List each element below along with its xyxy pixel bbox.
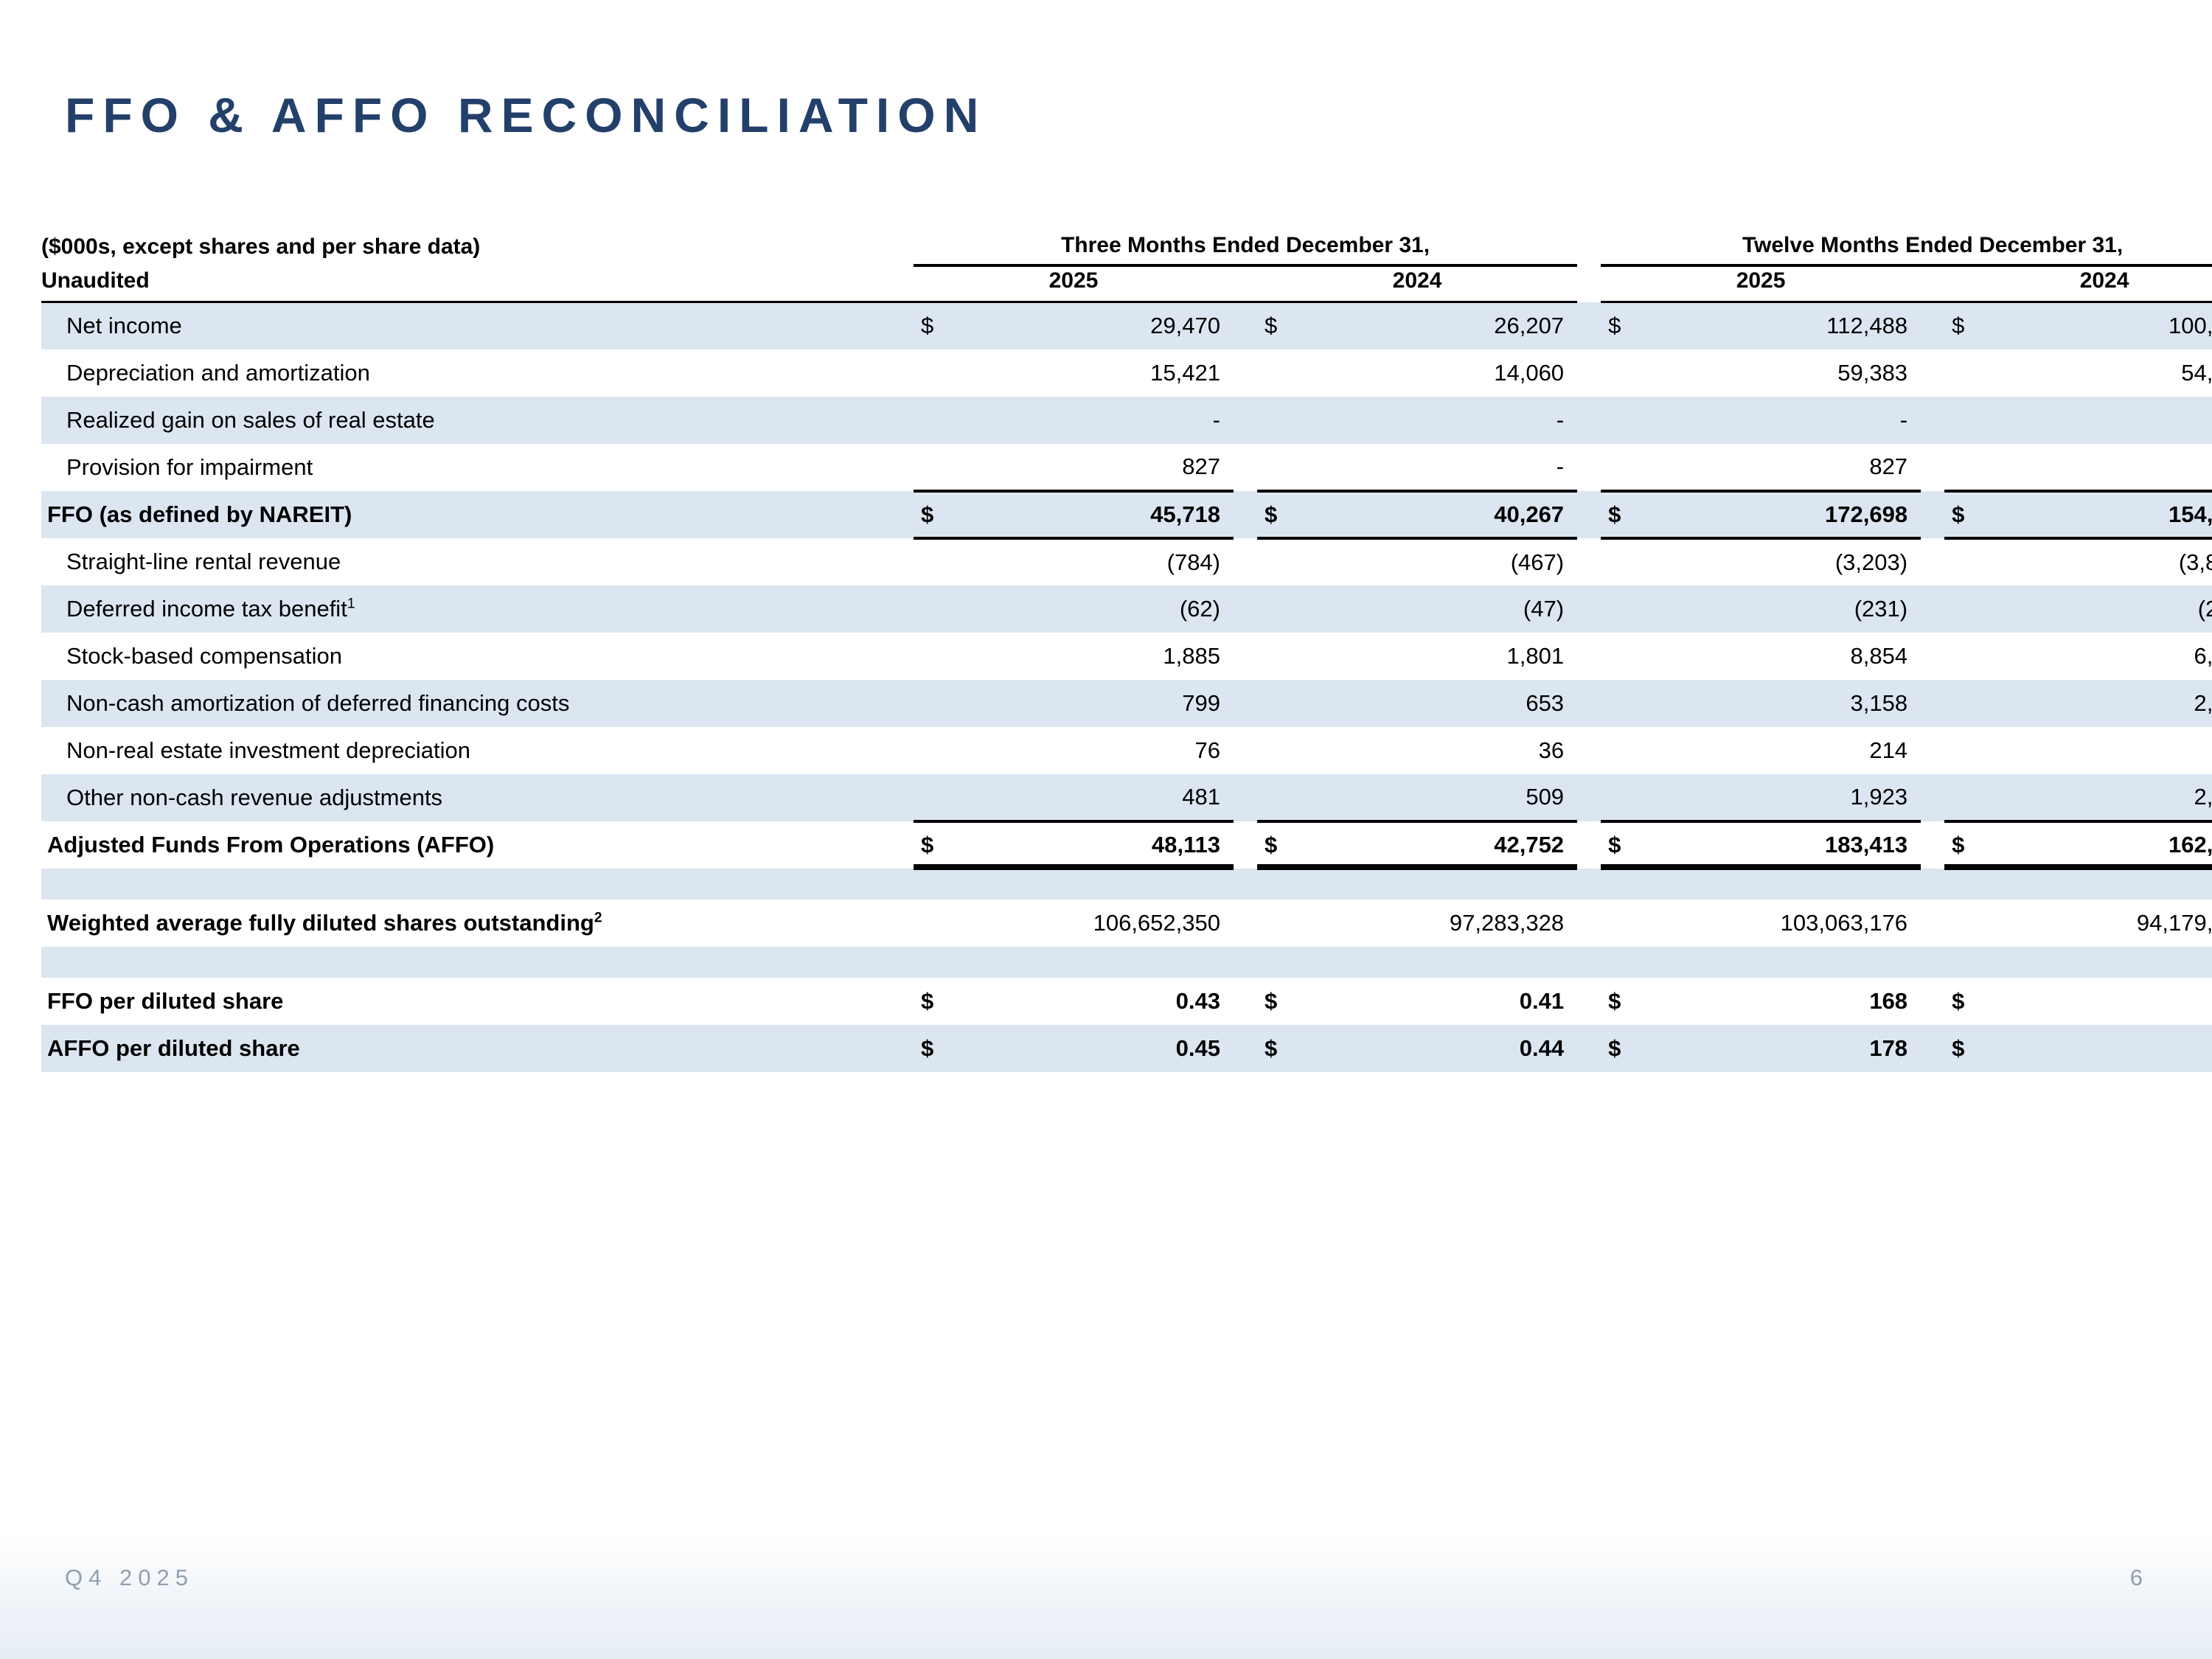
value-cell: 97,283,328 xyxy=(1295,900,1577,947)
value-cell: - xyxy=(952,397,1234,444)
currency-symbol-cell xyxy=(1257,727,1295,774)
column-gap xyxy=(1577,302,1601,349)
row-label: Deferred income tax benefit1 xyxy=(41,585,914,633)
row-label: FFO (as defined by NAREIT) xyxy=(41,491,914,538)
spacer-cell xyxy=(41,869,2212,900)
column-gap xyxy=(1577,538,1601,585)
value-cell: 106,652,350 xyxy=(952,900,1234,947)
value-cell: 1,801 xyxy=(1295,633,1577,680)
value-cell: 799 xyxy=(952,680,1234,727)
value-cell: 100,595 xyxy=(1983,302,2212,349)
row-label: Provision for impairment xyxy=(41,444,914,491)
currency-symbol-cell xyxy=(1601,585,1639,633)
currency-symbol-cell: $ xyxy=(1257,821,1295,869)
currency-symbol-cell xyxy=(1257,900,1295,947)
column-gap xyxy=(1921,491,1944,538)
value-cell: 2,072 xyxy=(1983,774,2212,821)
currency-symbol-cell: $ xyxy=(1601,491,1639,538)
table-row: Stock-based compensation1,8851,8018,8546… xyxy=(41,633,2212,680)
value-cell: 94,179,057 xyxy=(1983,900,2212,947)
value-cell: 178 xyxy=(1639,1025,1921,1072)
value-cell: (231) xyxy=(1639,585,1921,633)
footer-band xyxy=(0,1535,2212,1659)
currency-symbol-cell xyxy=(914,680,952,727)
currency-symbol-cell xyxy=(1944,397,1983,444)
col-header-y-2025: 2025 xyxy=(1601,265,1921,302)
value-cell: 40,267 xyxy=(1295,491,1577,538)
currency-symbol-cell xyxy=(1944,585,1983,633)
currency-symbol-cell xyxy=(914,585,952,633)
row-label: Non-real estate investment depreciation xyxy=(41,727,914,774)
table-row: Non-cash amortization of deferred financ… xyxy=(41,680,2212,727)
currency-symbol-cell: $ xyxy=(1944,1025,1983,1072)
currency-symbol-cell xyxy=(914,538,952,585)
table-row: Deferred income tax benefit1(62)(47)(231… xyxy=(41,585,2212,633)
currency-symbol-cell: $ xyxy=(914,1025,952,1072)
value-cell: (467) xyxy=(1295,538,1577,585)
currency-symbol-cell xyxy=(1601,444,1639,491)
value-cell: 15,421 xyxy=(952,349,1234,397)
column-gap xyxy=(1234,633,1257,680)
currency-symbol-cell: $ xyxy=(914,491,952,538)
year-gap-1 xyxy=(1234,265,1257,302)
value-cell: 173 xyxy=(1983,1025,2212,1072)
value-cell: 29,470 xyxy=(952,302,1234,349)
footer-period-label: Q4 2025 xyxy=(65,1565,194,1591)
column-gap xyxy=(1577,821,1601,869)
table-caption-line1: ($000s, except shares and per share data… xyxy=(41,233,914,265)
header-year-row: Unaudited 2025 2024 2025 2024 xyxy=(41,265,2212,302)
value-cell: 26,207 xyxy=(1295,302,1577,349)
value-cell: (3,810) xyxy=(1983,538,2212,585)
value-cell: 2,597 xyxy=(1983,680,2212,727)
value-cell: 0.44 xyxy=(1295,1025,1577,1072)
value-cell: - xyxy=(1295,444,1577,491)
currency-symbol-cell: $ xyxy=(1601,1025,1639,1072)
value-cell: 827 xyxy=(952,444,1234,491)
header-group-row: ($000s, except shares and per share data… xyxy=(41,233,2212,265)
currency-symbol-cell xyxy=(1257,633,1295,680)
spacer-cell xyxy=(41,947,2212,978)
column-gap xyxy=(1234,302,1257,349)
row-label: Stock-based compensation xyxy=(41,633,914,680)
col-header-q-2024: 2024 xyxy=(1257,265,1577,302)
value-cell: 36 xyxy=(1295,727,1577,774)
column-gap xyxy=(1234,727,1257,774)
value-cell: 0.41 xyxy=(1295,978,1577,1025)
column-gap xyxy=(1577,978,1601,1025)
column-gap xyxy=(1921,444,1944,491)
column-gap xyxy=(1921,349,1944,397)
value-cell: (3,203) xyxy=(1639,538,1921,585)
value-cell: 481 xyxy=(952,774,1234,821)
value-cell: - xyxy=(1639,397,1921,444)
currency-symbol-cell xyxy=(1257,538,1295,585)
column-gap xyxy=(1234,900,1257,947)
year-gap-3 xyxy=(1921,265,1944,302)
value-cell: - xyxy=(1983,444,2212,491)
row-label: Adjusted Funds From Operations (AFFO) xyxy=(41,821,914,869)
currency-symbol-cell: $ xyxy=(1601,821,1639,869)
column-gap xyxy=(1234,397,1257,444)
table-spacer-row xyxy=(41,947,2212,978)
value-cell: - xyxy=(1295,397,1577,444)
table-row: Other non-cash revenue adjustments481509… xyxy=(41,774,2212,821)
value-cell: 214 xyxy=(1639,727,1921,774)
column-gap xyxy=(1921,585,1944,633)
currency-symbol-cell xyxy=(1601,538,1639,585)
group-gap-1 xyxy=(1577,233,1601,265)
column-gap xyxy=(1577,585,1601,633)
value-cell: 509 xyxy=(1295,774,1577,821)
column-gap xyxy=(1234,978,1257,1025)
value-cell: 168 xyxy=(1639,978,1921,1025)
currency-symbol-cell: $ xyxy=(1601,302,1639,349)
column-gap xyxy=(1577,1025,1601,1072)
currency-symbol-cell: $ xyxy=(1944,302,1983,349)
value-cell: 76 xyxy=(952,727,1234,774)
column-gap xyxy=(1234,1025,1257,1072)
table-head: ($000s, except shares and per share data… xyxy=(41,233,2212,302)
currency-symbol-cell xyxy=(1601,680,1639,727)
value-cell: 103,063,176 xyxy=(1639,900,1921,947)
currency-symbol-cell: $ xyxy=(914,821,952,869)
table-body: Net income$29,470$26,207$112,488$100,595… xyxy=(41,302,2212,1072)
value-cell: 142 xyxy=(1983,727,2212,774)
currency-symbol-cell: $ xyxy=(1944,978,1983,1025)
value-cell: 6,987 xyxy=(1983,633,2212,680)
column-gap xyxy=(1234,821,1257,869)
currency-symbol-cell: $ xyxy=(914,302,952,349)
currency-symbol-cell xyxy=(1601,774,1639,821)
column-gap xyxy=(1921,821,1944,869)
table-row: Realized gain on sales of real estate---… xyxy=(41,397,2212,444)
currency-symbol-cell xyxy=(1944,538,1983,585)
col-group-twelve-months: Twelve Months Ended December 31, xyxy=(1601,233,2212,265)
currency-symbol-cell xyxy=(1944,727,1983,774)
value-cell: 8,854 xyxy=(1639,633,1921,680)
year-gap-2 xyxy=(1577,265,1601,302)
value-cell: - xyxy=(1983,397,2212,444)
table-row: Straight-line rental revenue(784)(467)(3… xyxy=(41,538,2212,585)
table-row: Net income$29,470$26,207$112,488$100,595 xyxy=(41,302,2212,349)
currency-symbol-cell: $ xyxy=(1944,491,1983,538)
row-label: FFO per diluted share xyxy=(41,978,914,1025)
column-gap xyxy=(1234,774,1257,821)
footnote-marker: 1 xyxy=(347,596,355,611)
currency-symbol-cell xyxy=(1257,349,1295,397)
row-label: Depreciation and amortization xyxy=(41,349,914,397)
currency-symbol-cell xyxy=(1944,774,1983,821)
column-gap xyxy=(1921,1025,1944,1072)
value-cell: 165 xyxy=(1983,978,2212,1025)
currency-symbol-cell xyxy=(914,727,952,774)
table-spacer-row xyxy=(41,869,2212,900)
currency-symbol-cell xyxy=(1257,680,1295,727)
currency-symbol-cell: $ xyxy=(1257,1025,1295,1072)
row-label: Non-cash amortization of deferred financ… xyxy=(41,680,914,727)
value-cell: 172,698 xyxy=(1639,491,1921,538)
currency-symbol-cell xyxy=(1944,349,1983,397)
column-gap xyxy=(1234,444,1257,491)
currency-symbol-cell xyxy=(1601,633,1639,680)
col-header-q-2025: 2025 xyxy=(914,265,1234,302)
value-cell: 48,113 xyxy=(952,821,1234,869)
row-label: Straight-line rental revenue xyxy=(41,538,914,585)
page-title: FFO & AFFO RECONCILIATION xyxy=(65,87,987,143)
column-gap xyxy=(1234,680,1257,727)
column-gap xyxy=(1577,680,1601,727)
table-caption-line2: Unaudited xyxy=(41,265,914,302)
column-gap xyxy=(1577,727,1601,774)
table-row: FFO (as defined by NAREIT)$45,718$40,267… xyxy=(41,491,2212,538)
row-label: Other non-cash revenue adjustments xyxy=(41,774,914,821)
column-gap xyxy=(1921,680,1944,727)
column-gap xyxy=(1234,491,1257,538)
footer-page-number: 6 xyxy=(2130,1565,2143,1591)
value-cell: 0.43 xyxy=(952,978,1234,1025)
currency-symbol-cell: $ xyxy=(1944,821,1983,869)
column-gap xyxy=(1921,978,1944,1025)
value-cell: 183,413 xyxy=(1639,821,1921,869)
ffo-affo-table: ($000s, except shares and per share data… xyxy=(41,233,2212,1072)
value-cell: (784) xyxy=(952,538,1234,585)
currency-symbol-cell: $ xyxy=(1257,491,1295,538)
column-gap xyxy=(1921,900,1944,947)
currency-symbol-cell: $ xyxy=(914,978,952,1025)
value-cell: 1,923 xyxy=(1639,774,1921,821)
currency-symbol-cell xyxy=(1944,680,1983,727)
col-header-y-2024: 2024 xyxy=(1944,265,2212,302)
value-cell: 0.45 xyxy=(952,1025,1234,1072)
row-label: Weighted average fully diluted shares ou… xyxy=(41,900,914,947)
column-gap xyxy=(1577,444,1601,491)
currency-symbol-cell xyxy=(1944,444,1983,491)
currency-symbol-cell xyxy=(1944,633,1983,680)
value-cell: (62) xyxy=(952,585,1234,633)
value-cell: 45,718 xyxy=(952,491,1234,538)
currency-symbol-cell xyxy=(914,349,952,397)
currency-symbol-cell xyxy=(1257,444,1295,491)
currency-symbol-cell xyxy=(914,397,952,444)
currency-symbol-cell xyxy=(1257,585,1295,633)
column-gap xyxy=(1577,900,1601,947)
row-label: Net income xyxy=(41,302,914,349)
ffo-affo-table-container: ($000s, except shares and per share data… xyxy=(41,233,2202,1072)
currency-symbol-cell: $ xyxy=(1601,978,1639,1025)
column-gap xyxy=(1577,774,1601,821)
column-gap xyxy=(1921,538,1944,585)
column-gap xyxy=(1577,397,1601,444)
column-gap xyxy=(1921,774,1944,821)
table-row: AFFO per diluted share$0.45$0.44$178$173 xyxy=(41,1025,2212,1072)
currency-symbol-cell xyxy=(1601,900,1639,947)
currency-symbol-cell xyxy=(914,633,952,680)
row-label: Realized gain on sales of real estate xyxy=(41,397,914,444)
column-gap xyxy=(1234,349,1257,397)
currency-symbol-cell xyxy=(914,444,952,491)
currency-symbol-cell xyxy=(1601,727,1639,774)
column-gap xyxy=(1234,538,1257,585)
table-row: Non-real estate investment depreciation7… xyxy=(41,727,2212,774)
value-cell: 54,372 xyxy=(1983,349,2212,397)
column-gap xyxy=(1921,727,1944,774)
currency-symbol-cell xyxy=(1601,349,1639,397)
currency-symbol-cell xyxy=(1257,774,1295,821)
value-cell: (47) xyxy=(1295,585,1577,633)
value-cell: 14,060 xyxy=(1295,349,1577,397)
currency-symbol-cell xyxy=(1601,397,1639,444)
column-gap xyxy=(1234,585,1257,633)
column-gap xyxy=(1921,302,1944,349)
table-row: FFO per diluted share$0.43$0.41$168$165 xyxy=(41,978,2212,1025)
column-gap xyxy=(1921,397,1944,444)
table-row: Depreciation and amortization15,42114,06… xyxy=(41,349,2212,397)
currency-symbol-cell: $ xyxy=(1257,978,1295,1025)
currency-symbol-cell xyxy=(914,900,952,947)
value-cell: 653 xyxy=(1295,680,1577,727)
currency-symbol-cell xyxy=(1944,900,1983,947)
currency-symbol-cell: $ xyxy=(1257,302,1295,349)
column-gap xyxy=(1577,349,1601,397)
currency-symbol-cell xyxy=(914,774,952,821)
value-cell: (200) xyxy=(1983,585,2212,633)
col-group-three-months: Three Months Ended December 31, xyxy=(914,233,1577,265)
footnote-marker: 2 xyxy=(594,910,602,925)
value-cell: 42,752 xyxy=(1295,821,1577,869)
currency-symbol-cell xyxy=(1257,397,1295,444)
table-row: Weighted average fully diluted shares ou… xyxy=(41,900,2212,947)
table-row: Provision for impairment827-827- xyxy=(41,444,2212,491)
value-cell: 112,488 xyxy=(1639,302,1921,349)
column-gap xyxy=(1577,633,1601,680)
value-cell: 162,755 xyxy=(1983,821,2212,869)
value-cell: 3,158 xyxy=(1639,680,1921,727)
value-cell: 1,885 xyxy=(952,633,1234,680)
table-row: Adjusted Funds From Operations (AFFO)$48… xyxy=(41,821,2212,869)
column-gap xyxy=(1577,491,1601,538)
column-gap xyxy=(1921,633,1944,680)
value-cell: 59,383 xyxy=(1639,349,1921,397)
row-label: AFFO per diluted share xyxy=(41,1025,914,1072)
value-cell: 154,967 xyxy=(1983,491,2212,538)
value-cell: 827 xyxy=(1639,444,1921,491)
